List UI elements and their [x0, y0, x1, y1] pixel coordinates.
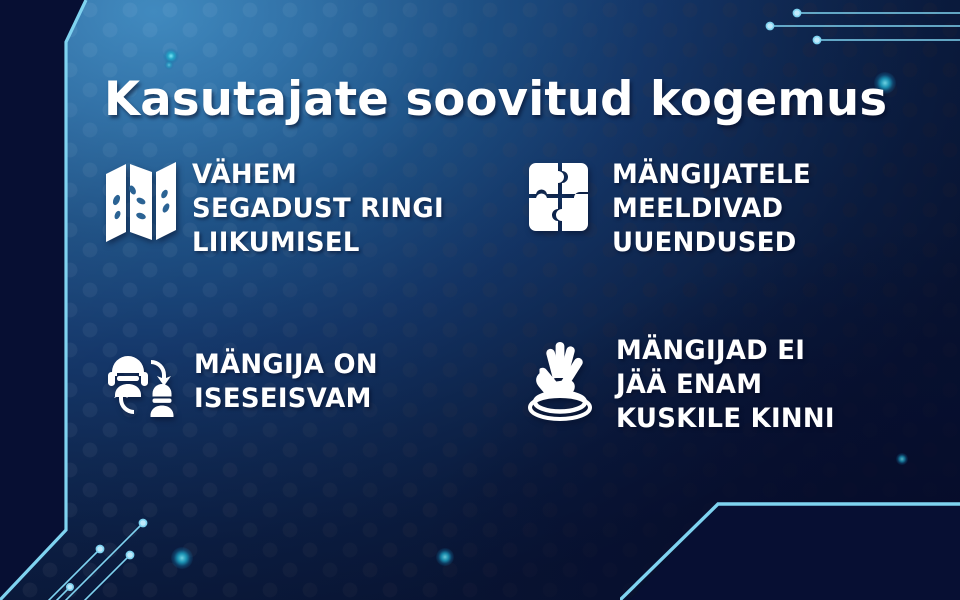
benefit-item-label: MÄNGIJATELE MEELDIVAD UUENDUSED: [612, 158, 811, 260]
benefit-item-liked-updates: MÄNGIJATELE MEELDIVAD UUENDUSED: [524, 158, 819, 260]
benefit-item-label: MÄNGIJA ON ISESEISVAM: [194, 348, 378, 416]
benefit-item-less-confusion: VÄHEM SEGADUST RINGI LIIKUMISEL: [104, 158, 454, 260]
poster-canvas: Kasutajate soovitud kogemus: [0, 0, 960, 600]
benefit-item-label: MÄNGIJAD EI JÄÄ ENAM KUSKILE KINNI: [616, 334, 835, 436]
benefit-item-more-independent: MÄNGIJA ON ISESEISVAM: [104, 348, 385, 420]
page-title: Kasutajate soovitud kogemus: [104, 72, 887, 127]
sinking-hand-icon: [518, 334, 602, 426]
poster-content: Kasutajate soovitud kogemus: [0, 0, 960, 600]
puzzle-pieces-icon: [524, 158, 598, 236]
benefit-item-label: VÄHEM SEGADUST RINGI LIIKUMISEL: [192, 158, 444, 260]
benefit-item-not-stuck: MÄNGIJAD EI JÄÄ ENAM KUSKILE KINNI: [518, 334, 844, 436]
folded-map-icon: [104, 158, 178, 244]
support-handoff-icon: [104, 348, 180, 420]
